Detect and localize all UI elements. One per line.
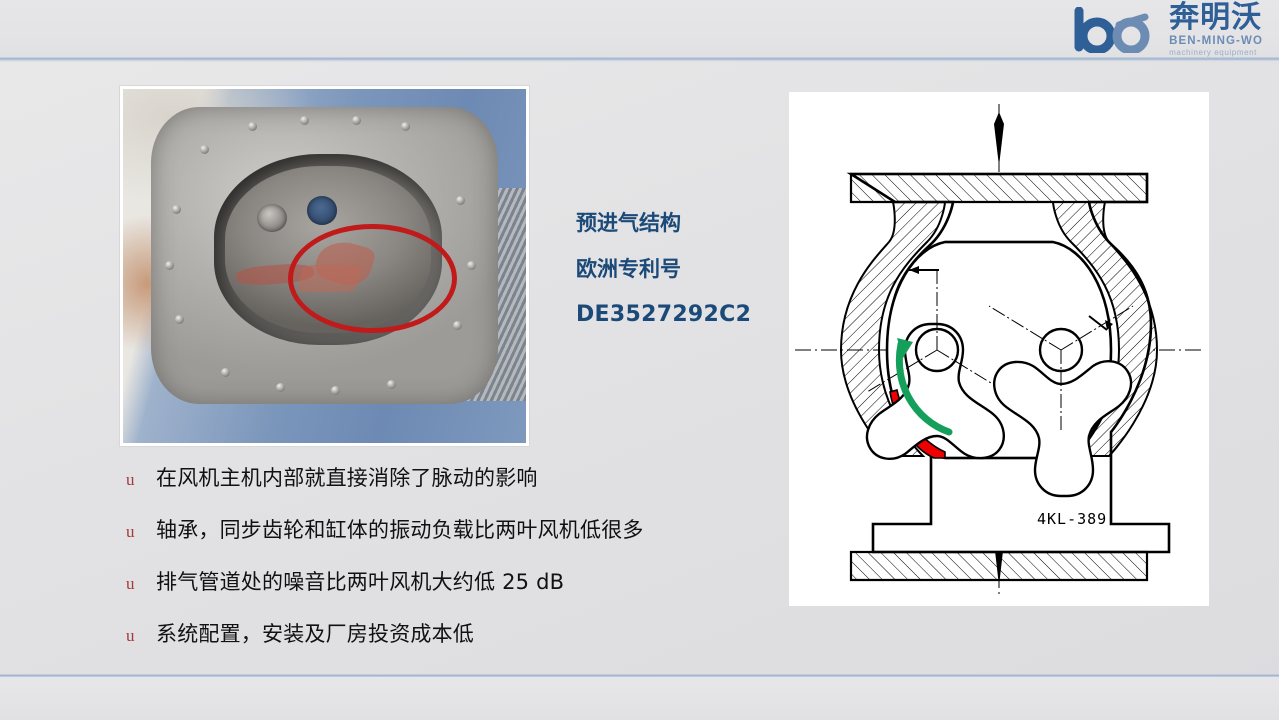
list-item: u 在风机主机内部就直接消除了脉动的影响 — [120, 462, 780, 514]
list-item-label: 在风机主机内部就直接消除了脉动的影响 — [156, 462, 538, 492]
top-flange — [851, 174, 1147, 202]
list-item: u 系统配置，安装及厂房投资成本低 — [120, 618, 780, 670]
bullet-marker-icon: u — [120, 522, 156, 542]
patent-number: DE3527292C2 — [576, 292, 791, 338]
logo-chinese-name: 奔明沃 — [1169, 3, 1262, 33]
photo-shaft-bore-left — [257, 204, 287, 233]
tri-lobe-blower-cross-section: 4KL-389 — [789, 92, 1209, 606]
heading-line-1: 预进气结构 — [576, 200, 791, 246]
bullet-list: u 在风机主机内部就直接消除了脉动的影响 u 轴承，同步齿轮和缸体的振动负载比两… — [120, 462, 780, 670]
bullet-marker-icon: u — [120, 470, 156, 490]
slide-header: 奔明沃 BEN-MING-WO machinery equipment — [0, 0, 1279, 62]
page-title: 预进气结构 欧洲专利号 DE3527292C2 — [576, 200, 791, 338]
red-ellipse-highlight — [288, 224, 457, 334]
bottom-flange — [851, 552, 1147, 580]
bullet-marker-icon: u — [120, 626, 156, 646]
heading-line-2: 欧洲专利号 — [576, 246, 791, 292]
blower-casing-photo — [120, 86, 529, 446]
list-item: u 轴承，同步齿轮和缸体的振动负载比两叶风机低很多 — [120, 514, 780, 566]
company-logo: 奔明沃 BEN-MING-WO machinery equipment — [1013, 2, 1263, 58]
logo-tagline: machinery equipment — [1169, 48, 1257, 57]
list-item-label: 排气管道处的噪音比两叶风机大约低 25 dB — [156, 566, 564, 596]
logo-latin-name: BEN-MING-WO — [1169, 35, 1263, 47]
list-item: u 排气管道处的噪音比两叶风机大约低 25 dB — [120, 566, 780, 618]
bo-monogram-icon — [1071, 7, 1163, 53]
diagram-label: 4KL-389 — [1037, 510, 1107, 528]
inlet-arrow-icon — [994, 112, 1004, 166]
photo-shaft-bore-right — [307, 196, 337, 225]
list-item-label: 轴承，同步齿轮和缸体的振动负载比两叶风机低很多 — [156, 514, 644, 544]
slide-footer: 8 Zhejiang BMW Mechanical & Science and … — [0, 677, 1279, 720]
bullet-marker-icon: u — [120, 574, 156, 594]
list-item-label: 系统配置，安装及厂房投资成本低 — [156, 618, 474, 648]
